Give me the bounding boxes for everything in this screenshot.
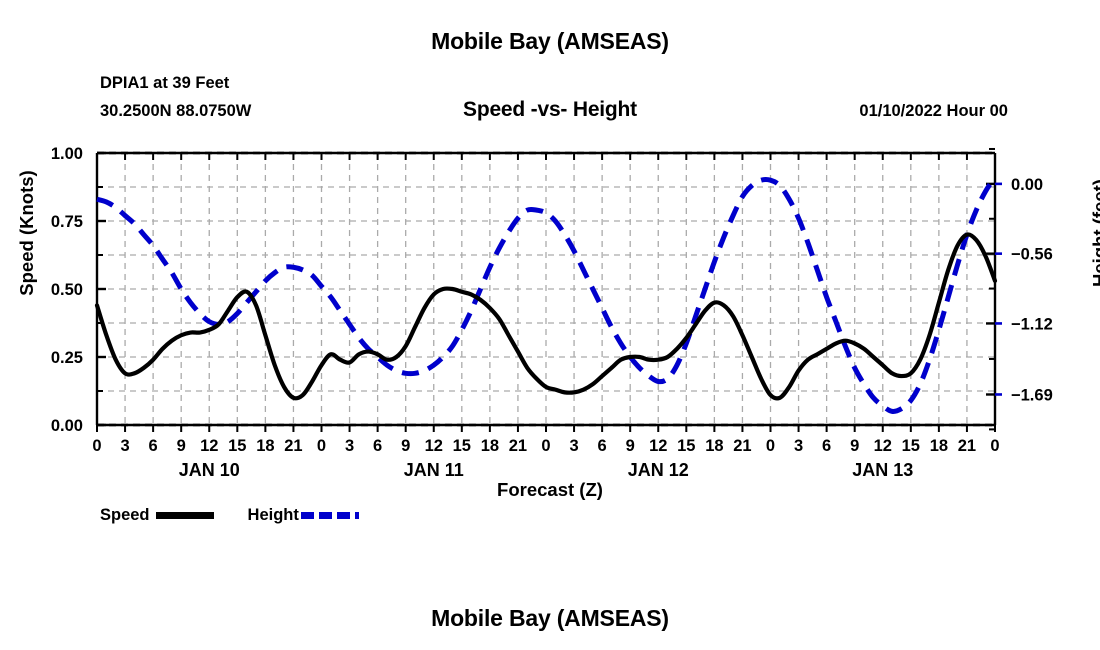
svg-text:18: 18 bbox=[930, 437, 948, 455]
legend-label-speed: Speed bbox=[100, 506, 150, 525]
svg-text:0.75: 0.75 bbox=[51, 213, 83, 231]
day-labels: JAN 10JAN 11JAN 12JAN 13 bbox=[179, 460, 914, 480]
svg-text:3: 3 bbox=[794, 437, 803, 455]
svg-text:0: 0 bbox=[92, 437, 101, 455]
svg-text:15: 15 bbox=[453, 437, 471, 455]
svg-text:6: 6 bbox=[149, 437, 158, 455]
svg-text:9: 9 bbox=[177, 437, 186, 455]
svg-text:12: 12 bbox=[425, 437, 443, 455]
grid-lines bbox=[97, 153, 995, 425]
svg-text:12: 12 bbox=[874, 437, 892, 455]
svg-text:−1.12: −1.12 bbox=[1011, 315, 1053, 333]
svg-text:12: 12 bbox=[200, 437, 218, 455]
chart-svg: 0.000.250.500.751.000.00−0.56−1.12−1.690… bbox=[0, 0, 1100, 650]
svg-text:9: 9 bbox=[401, 437, 410, 455]
svg-text:0: 0 bbox=[317, 437, 326, 455]
legend-item-height: Height bbox=[248, 506, 359, 525]
svg-text:21: 21 bbox=[733, 437, 751, 455]
legend-label-height: Height bbox=[248, 506, 299, 525]
legend-swatch-speed-icon bbox=[156, 512, 214, 519]
svg-text:6: 6 bbox=[598, 437, 607, 455]
y-axis-right-title: Height (feet) bbox=[1089, 153, 1100, 313]
svg-text:15: 15 bbox=[228, 437, 246, 455]
legend-item-speed: Speed bbox=[100, 506, 248, 525]
plot-area: 0.000.250.500.751.000.00−0.56−1.12−1.690… bbox=[0, 0, 1100, 650]
svg-text:18: 18 bbox=[705, 437, 723, 455]
x-axis-title: Forecast (Z) bbox=[0, 479, 1100, 501]
svg-text:0: 0 bbox=[990, 437, 999, 455]
svg-text:0.25: 0.25 bbox=[51, 349, 83, 367]
svg-text:21: 21 bbox=[284, 437, 302, 455]
y-axis-left-title: Speed (Knots) bbox=[16, 153, 38, 313]
svg-text:18: 18 bbox=[256, 437, 274, 455]
svg-text:9: 9 bbox=[626, 437, 635, 455]
svg-text:6: 6 bbox=[373, 437, 382, 455]
svg-text:−0.56: −0.56 bbox=[1011, 246, 1053, 264]
svg-text:21: 21 bbox=[509, 437, 527, 455]
svg-text:1.00: 1.00 bbox=[51, 145, 83, 163]
svg-text:15: 15 bbox=[902, 437, 920, 455]
svg-text:3: 3 bbox=[569, 437, 578, 455]
svg-text:0: 0 bbox=[766, 437, 775, 455]
svg-text:21: 21 bbox=[958, 437, 976, 455]
svg-text:JAN 10: JAN 10 bbox=[179, 460, 240, 480]
legend-swatch-height-icon bbox=[301, 512, 359, 519]
svg-text:JAN 11: JAN 11 bbox=[404, 460, 464, 480]
svg-text:9: 9 bbox=[850, 437, 859, 455]
svg-text:0.00: 0.00 bbox=[51, 417, 83, 435]
svg-text:6: 6 bbox=[822, 437, 831, 455]
chart-page: Mobile Bay (AMSEAS) DPIA1 at 39 Feet 30.… bbox=[0, 0, 1100, 650]
svg-text:JAN 13: JAN 13 bbox=[852, 460, 913, 480]
svg-text:3: 3 bbox=[345, 437, 354, 455]
page-footer-title: Mobile Bay (AMSEAS) bbox=[0, 605, 1100, 632]
chart-legend: Speed Height bbox=[100, 506, 359, 525]
svg-text:−1.69: −1.69 bbox=[1011, 386, 1053, 404]
tick-labels: 0.000.250.500.751.000.00−0.56−1.12−1.690… bbox=[51, 145, 1053, 455]
svg-text:0.50: 0.50 bbox=[51, 281, 83, 299]
svg-text:15: 15 bbox=[677, 437, 695, 455]
svg-text:0.00: 0.00 bbox=[1011, 176, 1043, 194]
svg-text:12: 12 bbox=[649, 437, 667, 455]
svg-text:3: 3 bbox=[120, 437, 129, 455]
svg-text:18: 18 bbox=[481, 437, 499, 455]
svg-text:JAN 12: JAN 12 bbox=[628, 460, 689, 480]
svg-text:0: 0 bbox=[541, 437, 550, 455]
